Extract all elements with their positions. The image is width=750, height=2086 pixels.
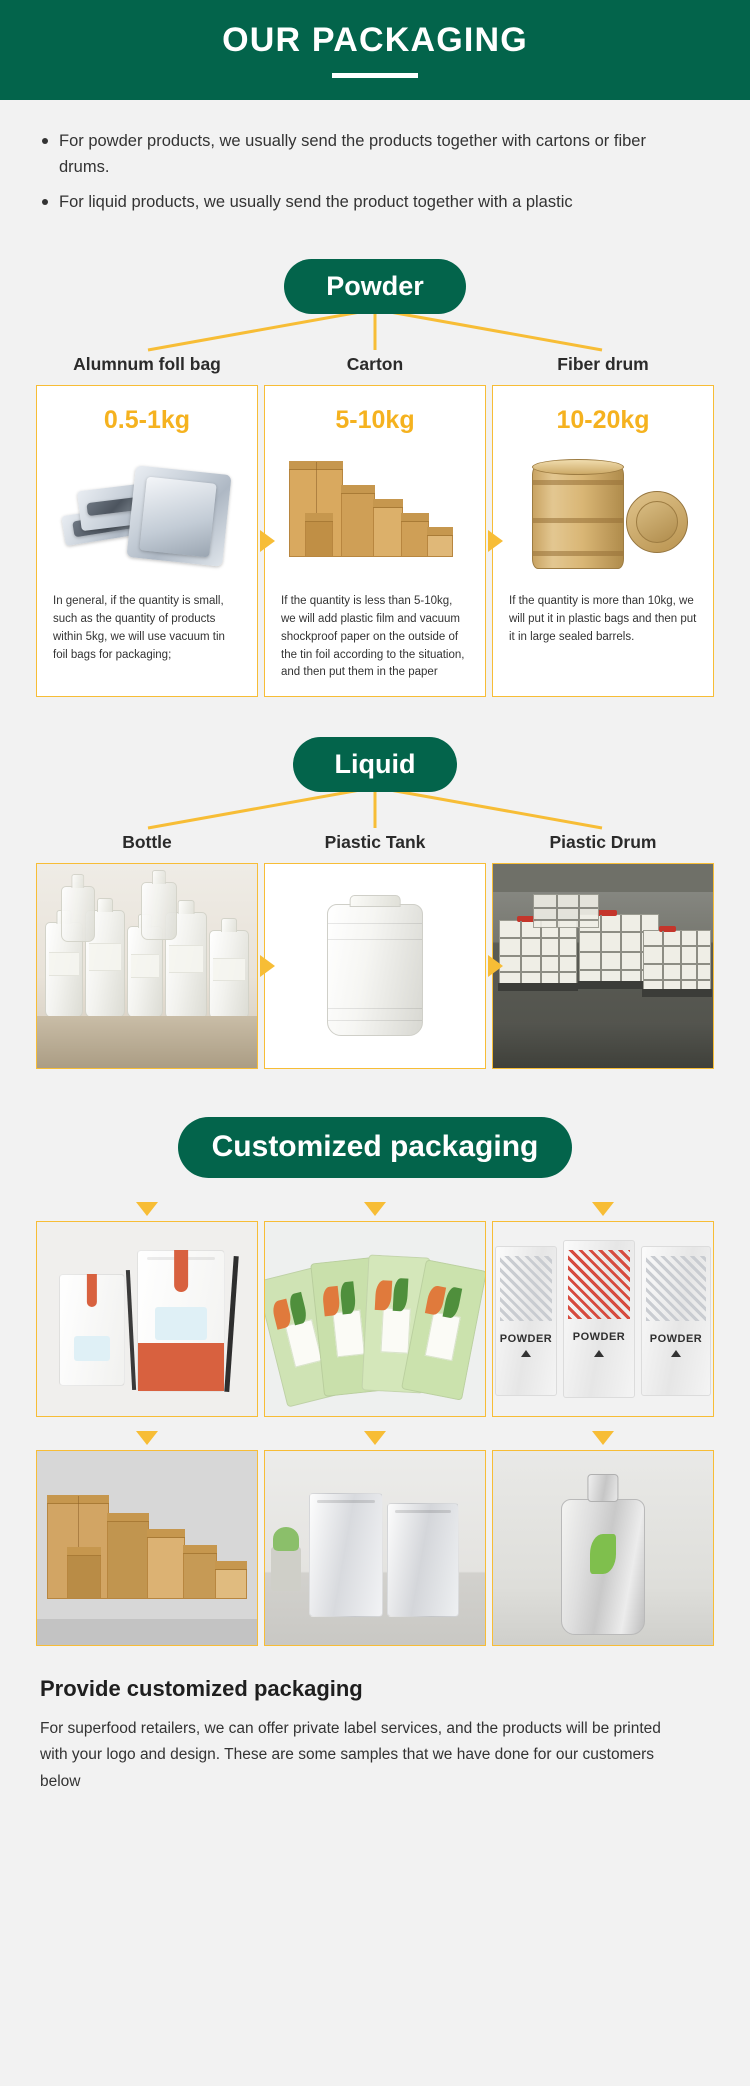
page-title: OUR PACKAGING [222, 23, 528, 57]
silver-standup-pouches-photo [264, 1450, 486, 1646]
footer-section: Provide customized packaging For superfo… [0, 1646, 750, 1830]
liquid-badge-wrap: Liquid [0, 737, 750, 792]
liquid-column-headers: Bottle Piastic Tank Piastic Drum [36, 832, 714, 853]
arrow-right-icon [488, 955, 503, 977]
list-item: For liquid products, we usually send the… [42, 189, 714, 215]
card-description: In general, if the quantity is small, su… [47, 593, 247, 664]
arrow-down-icon [592, 1431, 614, 1445]
page-header: OUR PACKAGING [0, 0, 750, 100]
card-description: If the quantity is more than 10kg, we wi… [503, 593, 703, 646]
connector-lines [0, 788, 750, 832]
white-orange-pouch-photo [36, 1221, 258, 1417]
customized-cell [36, 1431, 258, 1646]
customized-cell [36, 1202, 258, 1417]
customized-cell: POWDER POWDER POWDER [492, 1202, 714, 1417]
column-header: Bottle [36, 832, 258, 853]
title-underline [332, 73, 418, 78]
column-header: Fiber drum [492, 354, 714, 375]
powder-bags-photo: POWDER POWDER POWDER [492, 1221, 714, 1417]
bullet-dot-icon [42, 138, 48, 144]
list-item: For powder products, we usually send the… [42, 128, 714, 181]
bullet-text: For powder products, we usually send the… [59, 128, 689, 181]
column-header: Piastic Drum [492, 832, 714, 853]
footer-text: For superfood retailers, we can offer pr… [40, 1716, 680, 1796]
arrow-down-icon [364, 1431, 386, 1445]
customized-badge: Customized packaging [178, 1117, 573, 1178]
arrow-right-icon [260, 530, 275, 552]
powder-card-fiber-drum: 10-20kg If the quantity is more than 10k… [492, 385, 714, 697]
arrow-down-icon [592, 1202, 614, 1216]
plastic-tank-photo [264, 863, 486, 1069]
footer-title: Provide customized packaging [40, 1676, 710, 1702]
arrow-down-icon [136, 1202, 158, 1216]
aluminum-foil-bag-photo [47, 449, 247, 579]
carton-boxes-photo [275, 449, 475, 579]
powder-section: Alumnum foll bag Carton Fiber drum 0.5-1… [0, 354, 750, 697]
arrow-right-icon [488, 530, 503, 552]
customized-cell [264, 1431, 486, 1646]
intro-bullets: For powder products, we usually send the… [0, 100, 750, 233]
powder-card-foil-bag: 0.5-1kg In general, if the quantity is s… [36, 385, 258, 697]
bullet-dot-icon [42, 199, 48, 205]
aluminum-bottle-photo [492, 1450, 714, 1646]
customized-badge-wrap: Customized packaging [0, 1117, 750, 1178]
weight-label: 10-20kg [503, 406, 703, 435]
powder-connectors [0, 310, 750, 354]
ibc-totes-photo [492, 863, 714, 1069]
powder-cards: 0.5-1kg In general, if the quantity is s… [36, 385, 714, 697]
green-sachets-photo [264, 1221, 486, 1417]
weight-label: 5-10kg [275, 406, 475, 435]
customized-grid: POWDER POWDER POWDER [0, 1202, 750, 1646]
kraft-cartons-photo [36, 1450, 258, 1646]
arrow-down-icon [136, 1431, 158, 1445]
liquid-connectors [0, 788, 750, 832]
arrow-right-icon [260, 955, 275, 977]
customized-cell [264, 1202, 486, 1417]
card-description: If the quantity is less than 5-10kg, we … [275, 593, 475, 682]
column-header: Piastic Tank [264, 832, 486, 853]
powder-badge: Powder [284, 259, 466, 314]
column-header: Alumnum foll bag [36, 354, 258, 375]
connector-lines [0, 310, 750, 354]
liquid-section: Bottle Piastic Tank Piastic Drum [0, 832, 750, 1069]
fiber-drum-photo [503, 449, 703, 579]
weight-label: 0.5-1kg [47, 406, 247, 435]
liquid-cards [36, 863, 714, 1069]
plastic-bottles-photo [36, 863, 258, 1069]
powder-badge-wrap: Powder [0, 259, 750, 314]
bullet-text: For liquid products, we usually send the… [59, 189, 573, 215]
customized-cell [492, 1431, 714, 1646]
arrow-down-icon [364, 1202, 386, 1216]
liquid-badge: Liquid [293, 737, 458, 792]
column-header: Carton [264, 354, 486, 375]
packaging-page: OUR PACKAGING For powder products, we us… [0, 0, 750, 2086]
powder-column-headers: Alumnum foll bag Carton Fiber drum [36, 354, 714, 375]
powder-card-carton: 5-10kg If the quantity is less than 5-10… [264, 385, 486, 697]
